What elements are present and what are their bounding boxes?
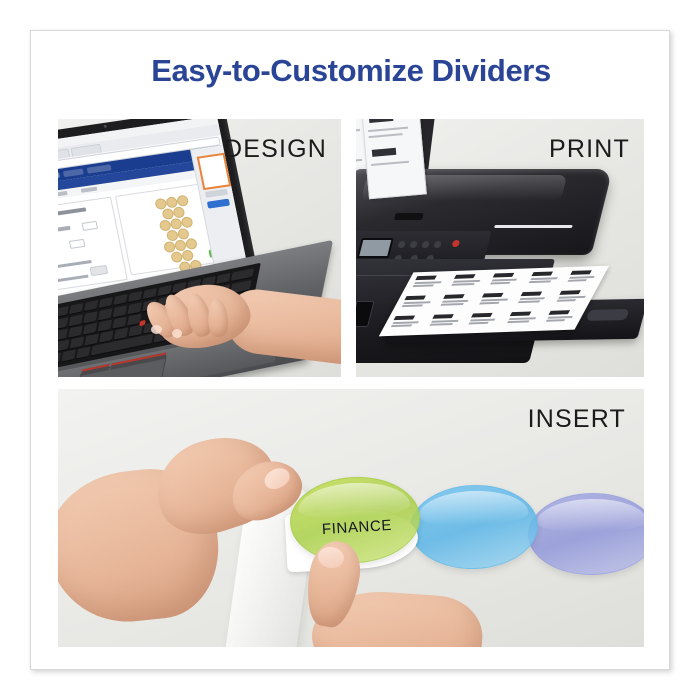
nav-item bbox=[87, 164, 112, 173]
lid-notch bbox=[394, 213, 424, 220]
tray-handle[interactable] bbox=[586, 309, 629, 321]
radio-label bbox=[58, 260, 92, 270]
panel-label-design: DESIGN bbox=[224, 135, 327, 164]
control-button[interactable] bbox=[409, 241, 418, 248]
form-label bbox=[58, 226, 71, 236]
webcam-icon bbox=[103, 125, 107, 128]
touchpad-middle-button[interactable] bbox=[110, 358, 139, 370]
tab-highlight bbox=[417, 489, 529, 527]
rail-item bbox=[205, 189, 228, 198]
control-button[interactable] bbox=[421, 241, 430, 248]
panel-label-insert: INSERT bbox=[528, 405, 626, 434]
printed-label-sheet bbox=[379, 266, 609, 337]
right-hand bbox=[254, 541, 484, 647]
printer-lcd-display bbox=[357, 238, 394, 258]
hand-on-trackpad bbox=[148, 273, 341, 377]
page-title: Easy-to-Customize Dividers bbox=[31, 53, 671, 89]
control-button[interactable] bbox=[433, 241, 442, 248]
panel-label-print: PRINT bbox=[549, 135, 630, 164]
lid-seam bbox=[494, 225, 573, 228]
form-row bbox=[58, 220, 113, 237]
control-button[interactable] bbox=[397, 241, 406, 248]
form-heading bbox=[58, 207, 86, 217]
form-input[interactable] bbox=[82, 221, 98, 231]
panel-design: DESIGN bbox=[58, 119, 341, 377]
nav-item bbox=[63, 168, 84, 177]
panel-insert: FINANCE INSERT bbox=[58, 389, 644, 647]
touchpad-left-button[interactable] bbox=[81, 364, 110, 376]
fingernail bbox=[151, 325, 162, 334]
rail-action-button[interactable] bbox=[207, 199, 230, 209]
power-button[interactable] bbox=[451, 240, 460, 247]
radio-label bbox=[58, 275, 89, 285]
panel-print: PRINT bbox=[356, 119, 644, 377]
feed-sheet bbox=[359, 119, 427, 199]
fingernail bbox=[172, 329, 182, 338]
tab-highlight bbox=[536, 498, 644, 534]
usb-port bbox=[356, 301, 374, 327]
form-input[interactable] bbox=[69, 239, 85, 249]
product-image-card: Easy-to-Customize Dividers bbox=[30, 30, 670, 670]
form-row bbox=[58, 235, 116, 252]
